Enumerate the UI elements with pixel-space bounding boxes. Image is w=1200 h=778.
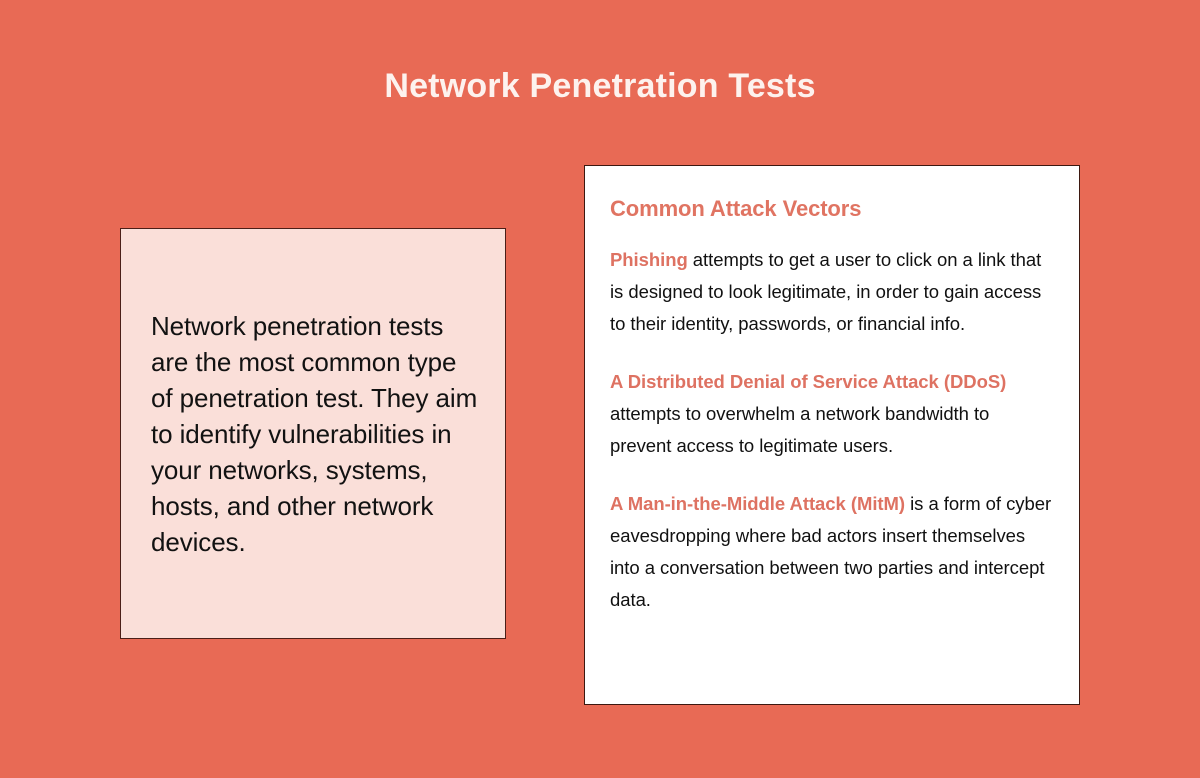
vector-body: attempts to overwhelm a network bandwidt… (610, 403, 989, 456)
vector-item: Phishing attempts to get a user to click… (610, 244, 1053, 340)
page-title: Network Penetration Tests (0, 64, 1200, 108)
vector-item: A Man-in-the-Middle Attack (MitM) is a f… (610, 488, 1053, 616)
attack-vectors-card: Common Attack Vectors Phishing attempts … (584, 165, 1080, 705)
vector-item: A Distributed Denial of Service Attack (… (610, 366, 1053, 462)
attack-vectors-heading: Common Attack Vectors (610, 194, 1053, 224)
slide-canvas: Network Penetration Tests Network penetr… (0, 0, 1200, 778)
summary-card: Network penetration tests are the most c… (120, 228, 506, 639)
vector-term: A Distributed Denial of Service Attack (… (610, 371, 1006, 392)
summary-card-text: Network penetration tests are the most c… (121, 308, 505, 560)
vector-term: A Man-in-the-Middle Attack (MitM) (610, 493, 905, 514)
vector-term: Phishing (610, 249, 688, 270)
